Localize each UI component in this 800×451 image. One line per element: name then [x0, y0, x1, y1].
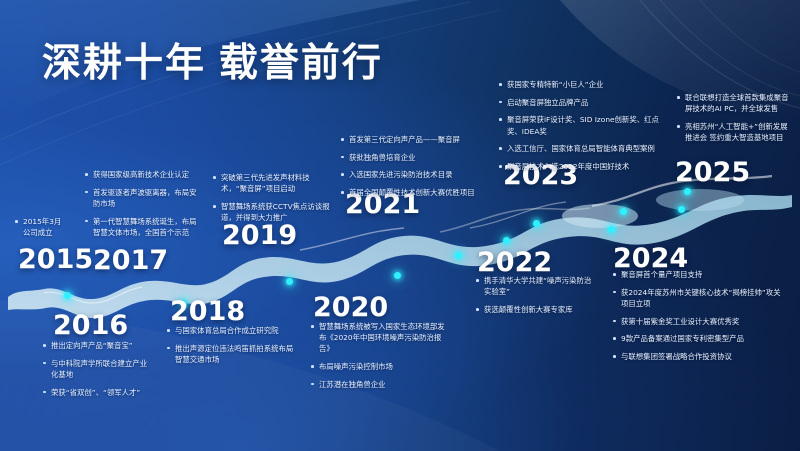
list-item: 入选国家先进污染防治技术目录 — [340, 169, 494, 180]
list-item: 联合联想打造全球首款集成聚音屏技术的AI PC，并全球发售 — [676, 92, 794, 114]
timeline-node-2018[interactable] — [394, 272, 401, 279]
milestone-block-2017: 获得国家级高新技术企业认定 首发驱逐者声波驱离器，布局安防市场 第一代智慧舞场系… — [84, 169, 198, 238]
list-item: 荣获“省双创”、“领军人才” — [42, 387, 152, 398]
timeline-node-2021[interactable] — [533, 220, 540, 227]
timeline-slide: 深耕十年 载誉前行 2015 2016 2017 2018 2019 2020 … — [0, 0, 800, 451]
milestone-block-2024: 聚音屏首个量产项目支持 获2024年度苏州市关键核心技术“揭榜挂帅”攻关项目立项… — [612, 269, 784, 362]
list-item: 获得国家级高新技术企业认定 — [84, 169, 198, 180]
list-item: 启动聚音屏独立品牌产品 — [498, 97, 666, 108]
list-item: 智慧舞场系统被写入国家生态环境部发布《2020年中国环境噪声污染防治报告》 — [310, 321, 448, 355]
list-item: 布局噪声污染控制市场 — [310, 361, 448, 372]
list-item: 获选颠覆性创新大赛专家库 — [475, 304, 595, 315]
list-item: 突破第三代先进发声材料技术，“聚音屏”项目启动 — [212, 172, 330, 194]
list-item: 聚音屏技术入选2022年度中国好技术 — [498, 161, 666, 172]
milestone-block-2019: 突破第三代先进发声材料技术，“聚音屏”项目启动 智慧舞场系统获CCTV焦点访谈报… — [212, 172, 330, 223]
year-label-2022: 2022 — [477, 247, 552, 278]
year-label-2018: 2018 — [170, 296, 245, 327]
list-item: 入选工信厅、国家体育总局智能体育典型案例 — [498, 143, 666, 154]
timeline-node-2017[interactable] — [286, 278, 293, 285]
timeline-node-2015[interactable] — [64, 292, 71, 299]
list-item: 获批独角兽培育企业 — [340, 152, 494, 163]
year-label-2017: 2017 — [93, 245, 168, 276]
timeline-node-2024[interactable] — [678, 206, 685, 213]
year-label-2020: 2020 — [313, 292, 388, 323]
list-item: 聚音屏首个量产项目支持 — [612, 269, 784, 280]
milestone-block-2021: 首发第三代定向声产品——聚音屏 获批独角兽培育企业 入选国家先进污染防治技术目录… — [340, 134, 494, 198]
milestone-block-2022: 携手清华大学共建“噪声污染防治实验室” 获选颠覆性创新大赛专家库 — [475, 275, 595, 315]
page-title: 深耕十年 载誉前行 — [42, 32, 383, 88]
list-item: 第一代智慧舞场系统诞生，布局智慧文体市场，全国首个示范 — [84, 216, 198, 238]
year-label-2016: 2016 — [53, 310, 128, 341]
list-item: 亮相苏州“人工智能+”创新发展推进会 签约重大智造基地项目 — [676, 121, 794, 143]
milestone-block-2016: 推出定向声产品“聚音宝” 与中科院声学所联合建立产业化基地 荣获“省双创”、“领… — [42, 340, 152, 398]
year-label-2019: 2019 — [222, 220, 297, 251]
list-item: 推出声源定位违法鸣笛抓拍系统布局智慧交通市场 — [166, 343, 294, 365]
list-item: 江苏潜在独角兽企业 — [310, 379, 448, 390]
list-item: 获国家专精特新“小巨人”企业 — [498, 79, 666, 90]
timeline-node-2023[interactable] — [620, 208, 627, 215]
list-item: 智慧舞场系统获CCTV焦点访谈报道，并得到大力推广 — [212, 201, 330, 223]
list-item: 获2024年度苏州市关键核心技术“揭榜挂帅”攻关项目立项 — [612, 287, 784, 309]
timeline-node-2020[interactable] — [503, 237, 510, 244]
list-item: 获第十届紫金奖工业设计大赛优秀奖 — [612, 316, 784, 327]
year-label-2015: 2015 — [18, 244, 93, 275]
list-item: 首发第三代定向声产品——聚音屏 — [340, 134, 494, 145]
list-item: 与中科院声学所联合建立产业化基地 — [42, 358, 152, 380]
milestone-block-2025: 联合联想打造全球首款集成聚音屏技术的AI PC，并全球发售 亮相苏州“人工智能+… — [676, 92, 794, 143]
milestone-block-2020: 智慧舞场系统被写入国家生态环境部发布《2020年中国环境噪声污染防治报告》 布局… — [310, 321, 448, 390]
list-item: 与国家体育总局合作成立研究院 — [166, 325, 294, 336]
timeline-node-2019[interactable] — [455, 252, 462, 259]
list-item: 聚音屏荣获iF设计奖、SID Izone创新奖、红点奖、IDEA奖 — [498, 114, 666, 136]
list-item: 9款产品备案通过国家专利密集型产品 — [612, 333, 784, 344]
year-label-2025: 2025 — [675, 157, 750, 188]
milestone-block-2023: 获国家专精特新“小巨人”企业 启动聚音屏独立品牌产品 聚音屏荣获iF设计奖、SI… — [498, 79, 666, 172]
timeline-node-2025[interactable] — [684, 188, 691, 195]
milestone-block-2018: 与国家体育总局合作成立研究院 推出声源定位违法鸣笛抓拍系统布局智慧交通市场 — [166, 325, 294, 365]
list-item: 首发驱逐者声波驱离器，布局安防市场 — [84, 187, 198, 209]
list-item: 推出定向声产品“聚音宝” — [42, 340, 152, 351]
list-item: 携手清华大学共建“噪声污染防治实验室” — [475, 275, 595, 297]
milestone-block-2015: 2015年3月 公司成立 — [14, 216, 88, 238]
timeline-node-2022[interactable] — [608, 226, 615, 233]
list-item: 首届全国颠覆性技术创新大赛优胜项目 — [340, 187, 494, 198]
list-item: 与联想集团签署战略合作投资协议 — [612, 351, 784, 362]
list-item: 2015年3月 公司成立 — [14, 216, 88, 238]
